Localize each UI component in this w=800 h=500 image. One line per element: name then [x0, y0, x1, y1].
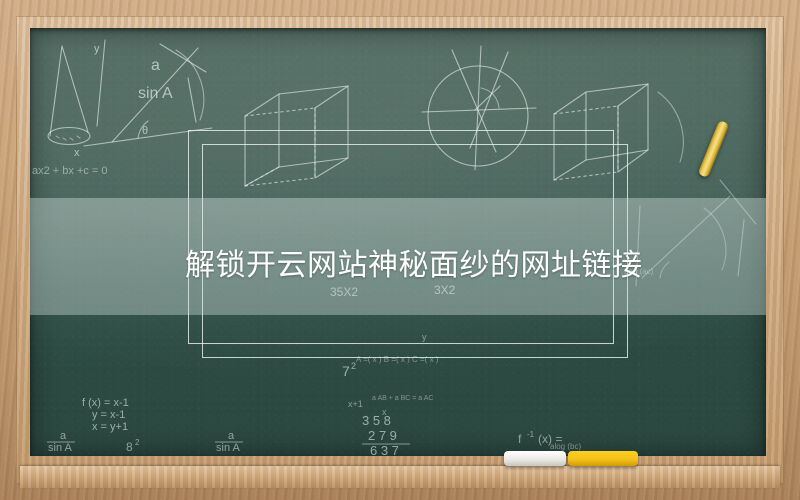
- exp-base: 7: [342, 363, 350, 379]
- arith-header: x+1: [348, 399, 363, 409]
- circle-axis-y: y: [422, 332, 427, 342]
- arith-row2: 2 7 9: [368, 428, 397, 443]
- tl-fraction-denominator: sin A: [138, 85, 173, 102]
- chalk-stick-icon: [698, 120, 730, 178]
- triangle-relation: a AB + a BC = a AC: [372, 395, 433, 402]
- decor-rect-back: [188, 130, 614, 344]
- tl-axis-x-label: x: [74, 147, 80, 159]
- fn-line-1: f (x) = x-1: [82, 397, 129, 409]
- inverse-fn-tail: (x) =: [538, 432, 562, 446]
- chalk-yellow-icon: [568, 451, 638, 466]
- bl-frac-num: a: [60, 430, 67, 442]
- tl-quadratic: ax2 + bx +c = 0: [32, 165, 108, 177]
- title-container: 解锁开云网站神秘面纱的网址链接: [30, 241, 766, 291]
- chalk-ledge: [20, 466, 780, 488]
- exp-power: 2: [351, 361, 356, 371]
- blackboard-banner: a sin A y x θ ax2 + bx +c = 0 f (x) = x-…: [0, 0, 800, 500]
- inverse-sup: -1: [527, 430, 535, 439]
- bl-square-exp: 2: [135, 438, 140, 447]
- tl-axis-y-label: y: [94, 43, 100, 55]
- bc-frac-den: sin A: [216, 442, 241, 454]
- bl-square-base: 8: [126, 440, 133, 454]
- alog-label: alog (bc): [550, 442, 581, 451]
- fn-line-2: y = x-1: [92, 409, 125, 421]
- fn-line-3: x = y+1: [92, 421, 128, 433]
- circle-axis-x: x: [382, 407, 387, 417]
- bc-frac-num: a: [228, 430, 235, 442]
- blackboard-surface: a sin A y x θ ax2 + bx +c = 0 f (x) = x-…: [30, 28, 766, 456]
- bl-frac-den: sin A: [48, 442, 73, 454]
- inverse-fn: f: [518, 432, 522, 446]
- tl-angle-label: θ: [142, 125, 148, 137]
- arith-row1: 3 5 8: [362, 413, 391, 428]
- tl-fraction-numerator: a: [151, 57, 160, 74]
- arith-result: 6 3 7: [370, 443, 399, 456]
- ratio-group: A =( x ) B =( x ) C =( x ): [356, 355, 439, 364]
- page-title: 解锁开云网站神秘面纱的网址链接: [30, 243, 643, 289]
- chalk-white-icon: [504, 451, 566, 466]
